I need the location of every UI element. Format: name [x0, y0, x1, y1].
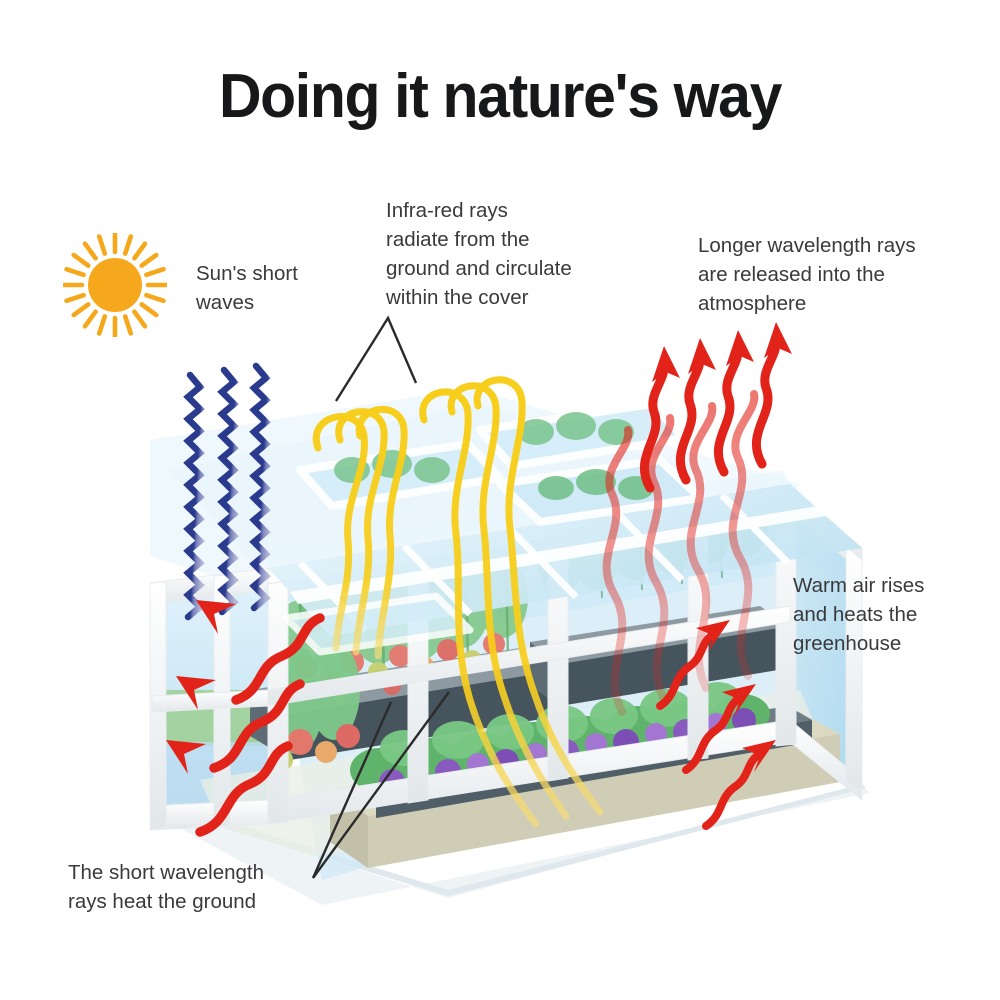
- longer-wavelength-arrowheads: [652, 322, 792, 382]
- sun-ray: [99, 316, 105, 333]
- greenhouse-illustration: [0, 0, 1000, 1000]
- sun-ray: [67, 269, 84, 275]
- sun-icon: [63, 233, 167, 337]
- sun-ray: [146, 295, 163, 301]
- short-wavelength-ground-label: The short wavelength rays heat the groun…: [68, 858, 318, 916]
- long-wave-arrow-3: [756, 340, 776, 464]
- sun-ray: [134, 244, 145, 259]
- sun-ray: [85, 244, 96, 259]
- sun-ray: [134, 312, 145, 327]
- sun-ray: [142, 304, 157, 315]
- sun-ray: [142, 255, 157, 266]
- sun-ray: [85, 312, 96, 327]
- sun-ray: [99, 237, 105, 254]
- sun-icon-svg: [63, 233, 167, 337]
- sun-ray: [74, 304, 89, 315]
- warm-air-rises-label: Warm air rises and heats the greenhouse: [793, 571, 993, 658]
- infra-red-rays-label: Infra-red rays radiate from the ground a…: [386, 196, 616, 312]
- sun-disc: [88, 258, 142, 312]
- sun-ray: [67, 295, 84, 301]
- sun-ray: [125, 237, 131, 254]
- sun-ray: [125, 316, 131, 333]
- suns-short-waves-label: Sun's short waves: [196, 259, 386, 317]
- sun-ray: [146, 269, 163, 275]
- leader-infra-red: [336, 318, 416, 401]
- longer-wavelength-label: Longer wavelength rays are released into…: [698, 231, 958, 318]
- sun-ray: [74, 255, 89, 266]
- infographic-page: Doing it nature's way Sun's short waves …: [0, 0, 1000, 1000]
- page-title: Doing it nature's way: [25, 64, 975, 129]
